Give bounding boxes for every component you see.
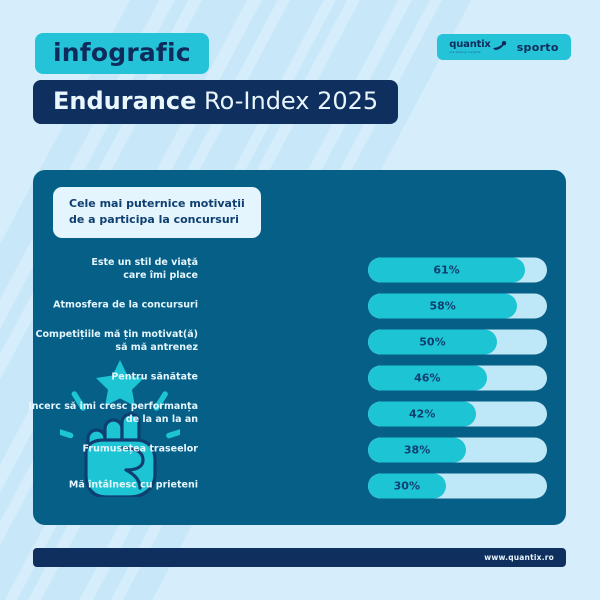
bar-row-label: Pentru sănătate <box>13 372 198 385</box>
bar-fill: 61% <box>368 258 525 283</box>
quantix-tagline: marketing insights <box>449 51 481 54</box>
footer-url: www.quantix.ro <box>484 553 554 562</box>
bar-row-label-line1: Frumusețea traseelor <box>13 444 198 457</box>
bar-track: 58% <box>368 294 547 319</box>
bar-fill: 30% <box>368 474 446 499</box>
bar-track: 61% <box>368 258 547 283</box>
bar-row-label: Competițiile mă țin motivat(ă)să mă antr… <box>13 329 198 355</box>
bar-row-label-line1: Mă întâlnesc cu prieteni <box>13 480 198 493</box>
bar-fill: 46% <box>368 366 487 391</box>
bar-row: Competițiile mă țin motivat(ă)să mă antr… <box>33 324 566 360</box>
bar-value-label: 58% <box>430 300 456 313</box>
bar-row: Pentru sănătate46% <box>33 360 566 396</box>
bar-row-label-line2: de la an la an <box>13 414 198 427</box>
bar-value-label: 38% <box>404 444 430 457</box>
sporto-logo: sporto <box>517 41 559 54</box>
bar-chart: Este un stil de viațăcare îmi place61%At… <box>33 252 566 504</box>
bar-fill: 58% <box>368 294 517 319</box>
bar-row: Incerc să imi cresc performanțade la an … <box>33 396 566 432</box>
bar-track: 30% <box>368 474 547 499</box>
bar-row-label-line1: Incerc să imi cresc performanța <box>13 401 198 414</box>
infographic-canvas: infografic Endurance Ro-Index 2025 quant… <box>0 0 600 600</box>
bar-track: 50% <box>368 330 547 355</box>
bar-row-label: Atmosfera de la concursuri <box>13 300 198 313</box>
bar-value-label: 46% <box>414 372 440 385</box>
bar-row-label-line1: Este un stil de viață <box>13 257 198 270</box>
bar-track: 38% <box>368 438 547 463</box>
panel-subtitle-line1: Cele mai puternice motivații <box>69 196 245 212</box>
bar-row-label: Este un stil de viațăcare îmi place <box>13 257 198 283</box>
bar-row: Atmosfera de la concursuri58% <box>33 288 566 324</box>
bar-value-label: 61% <box>433 264 459 277</box>
bar-row: Mă întâlnesc cu prieteni30% <box>33 468 566 504</box>
quantix-logo: quantix marketing insights <box>449 40 506 54</box>
bar-track: 42% <box>368 402 547 427</box>
bar-row-label-line2: care îmi place <box>13 270 198 283</box>
infografic-badge: infografic <box>35 33 209 74</box>
bar-fill: 38% <box>368 438 466 463</box>
bar-row-label-line1: Atmosfera de la concursuri <box>13 300 198 313</box>
bar-fill: 50% <box>368 330 497 355</box>
bar-value-label: 50% <box>419 336 445 349</box>
bar-row: Este un stil de viațăcare îmi place61% <box>33 252 566 288</box>
bar-row-label-line1: Competițiile mă țin motivat(ă) <box>13 329 198 342</box>
quantix-wordmark: quantix <box>449 40 490 50</box>
bar-row-label: Incerc să imi cresc performanțade la an … <box>13 401 198 427</box>
bar-value-label: 42% <box>409 408 435 421</box>
bar-row-label: Frumusețea traseelor <box>13 444 198 457</box>
quantix-swoosh-icon <box>493 41 507 50</box>
bar-row-label: Mă întâlnesc cu prieteni <box>13 480 198 493</box>
page-title: Endurance Ro-Index 2025 <box>33 80 398 124</box>
title-strong: Endurance <box>53 87 196 115</box>
brand-logo-pill: quantix marketing insights sporto <box>437 34 571 60</box>
bar-track: 46% <box>368 366 547 391</box>
title-light: Ro-Index 2025 <box>204 87 378 115</box>
bar-row-label-line2: să mă antrenez <box>13 342 198 355</box>
footer-bar: www.quantix.ro <box>33 548 566 567</box>
bar-value-label: 30% <box>394 480 420 493</box>
bar-row-label-line1: Pentru sănătate <box>13 372 198 385</box>
bar-row: Frumusețea traseelor38% <box>33 432 566 468</box>
panel-subtitle: Cele mai puternice motivații de a partic… <box>53 187 261 238</box>
bar-fill: 42% <box>368 402 476 427</box>
panel-subtitle-line2: de a participa la concursuri <box>69 212 245 228</box>
